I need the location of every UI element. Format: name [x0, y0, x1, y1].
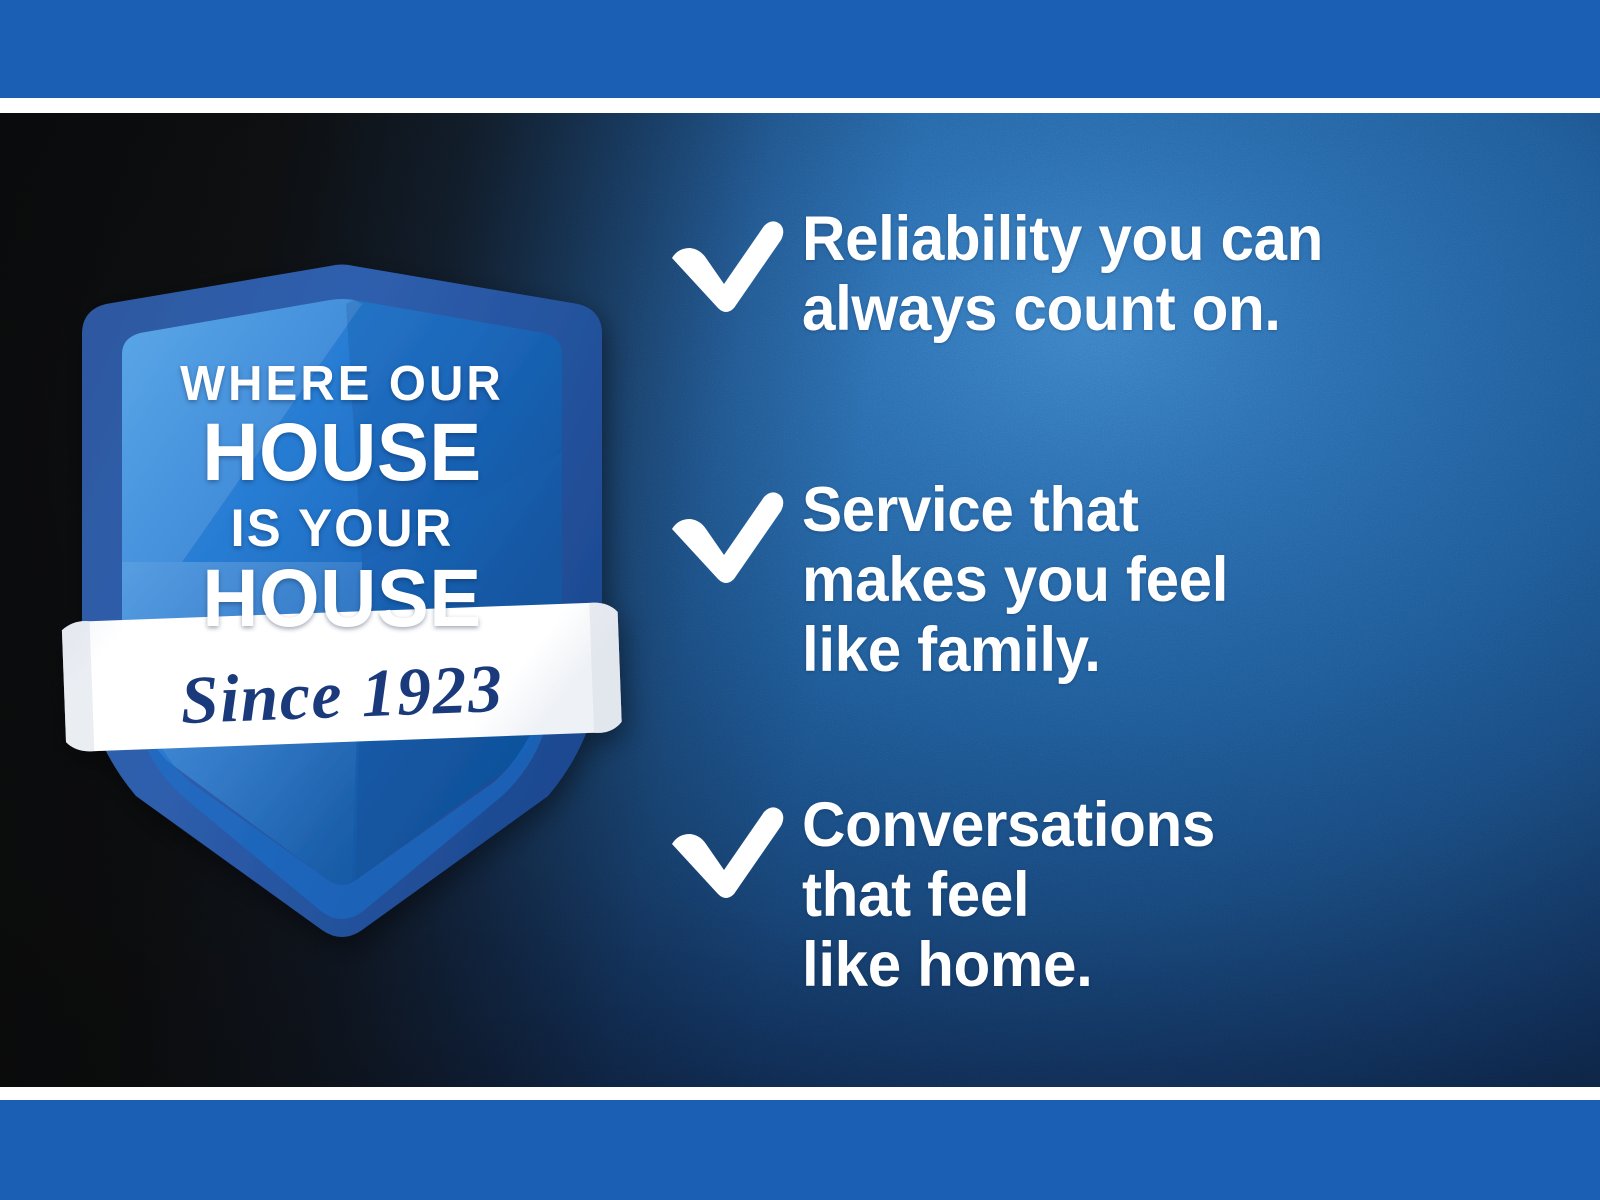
benefit-item-3: Conversations that feel like home.	[668, 790, 1234, 1001]
checkmark-icon	[668, 475, 788, 583]
shield-badge: Where Our House Is Your House Since 1923	[62, 262, 622, 942]
benefit-text-2: Service that makes you feel like family.	[802, 475, 1228, 686]
benefit-item-2: Service that makes you feel like family.	[668, 475, 1248, 686]
checkmark-icon	[668, 790, 788, 898]
badge-line-4: House	[76, 558, 608, 640]
badge-line-2: House	[76, 412, 608, 494]
benefit-text-1: Reliability you can always count on.	[802, 204, 1323, 344]
benefit-item-1: Reliability you can always count on.	[668, 204, 1348, 344]
checkmark-icon	[668, 204, 788, 312]
bottom-accent-bar	[0, 1100, 1600, 1200]
badge-line-1: Where Our	[70, 360, 613, 409]
badge-line-3: Is Your	[73, 502, 611, 555]
top-accent-bar	[0, 0, 1600, 98]
benefit-text-3: Conversations that feel like home.	[802, 790, 1215, 1001]
promo-graphic: Where Our House Is Your House Since 1923…	[0, 0, 1600, 1200]
